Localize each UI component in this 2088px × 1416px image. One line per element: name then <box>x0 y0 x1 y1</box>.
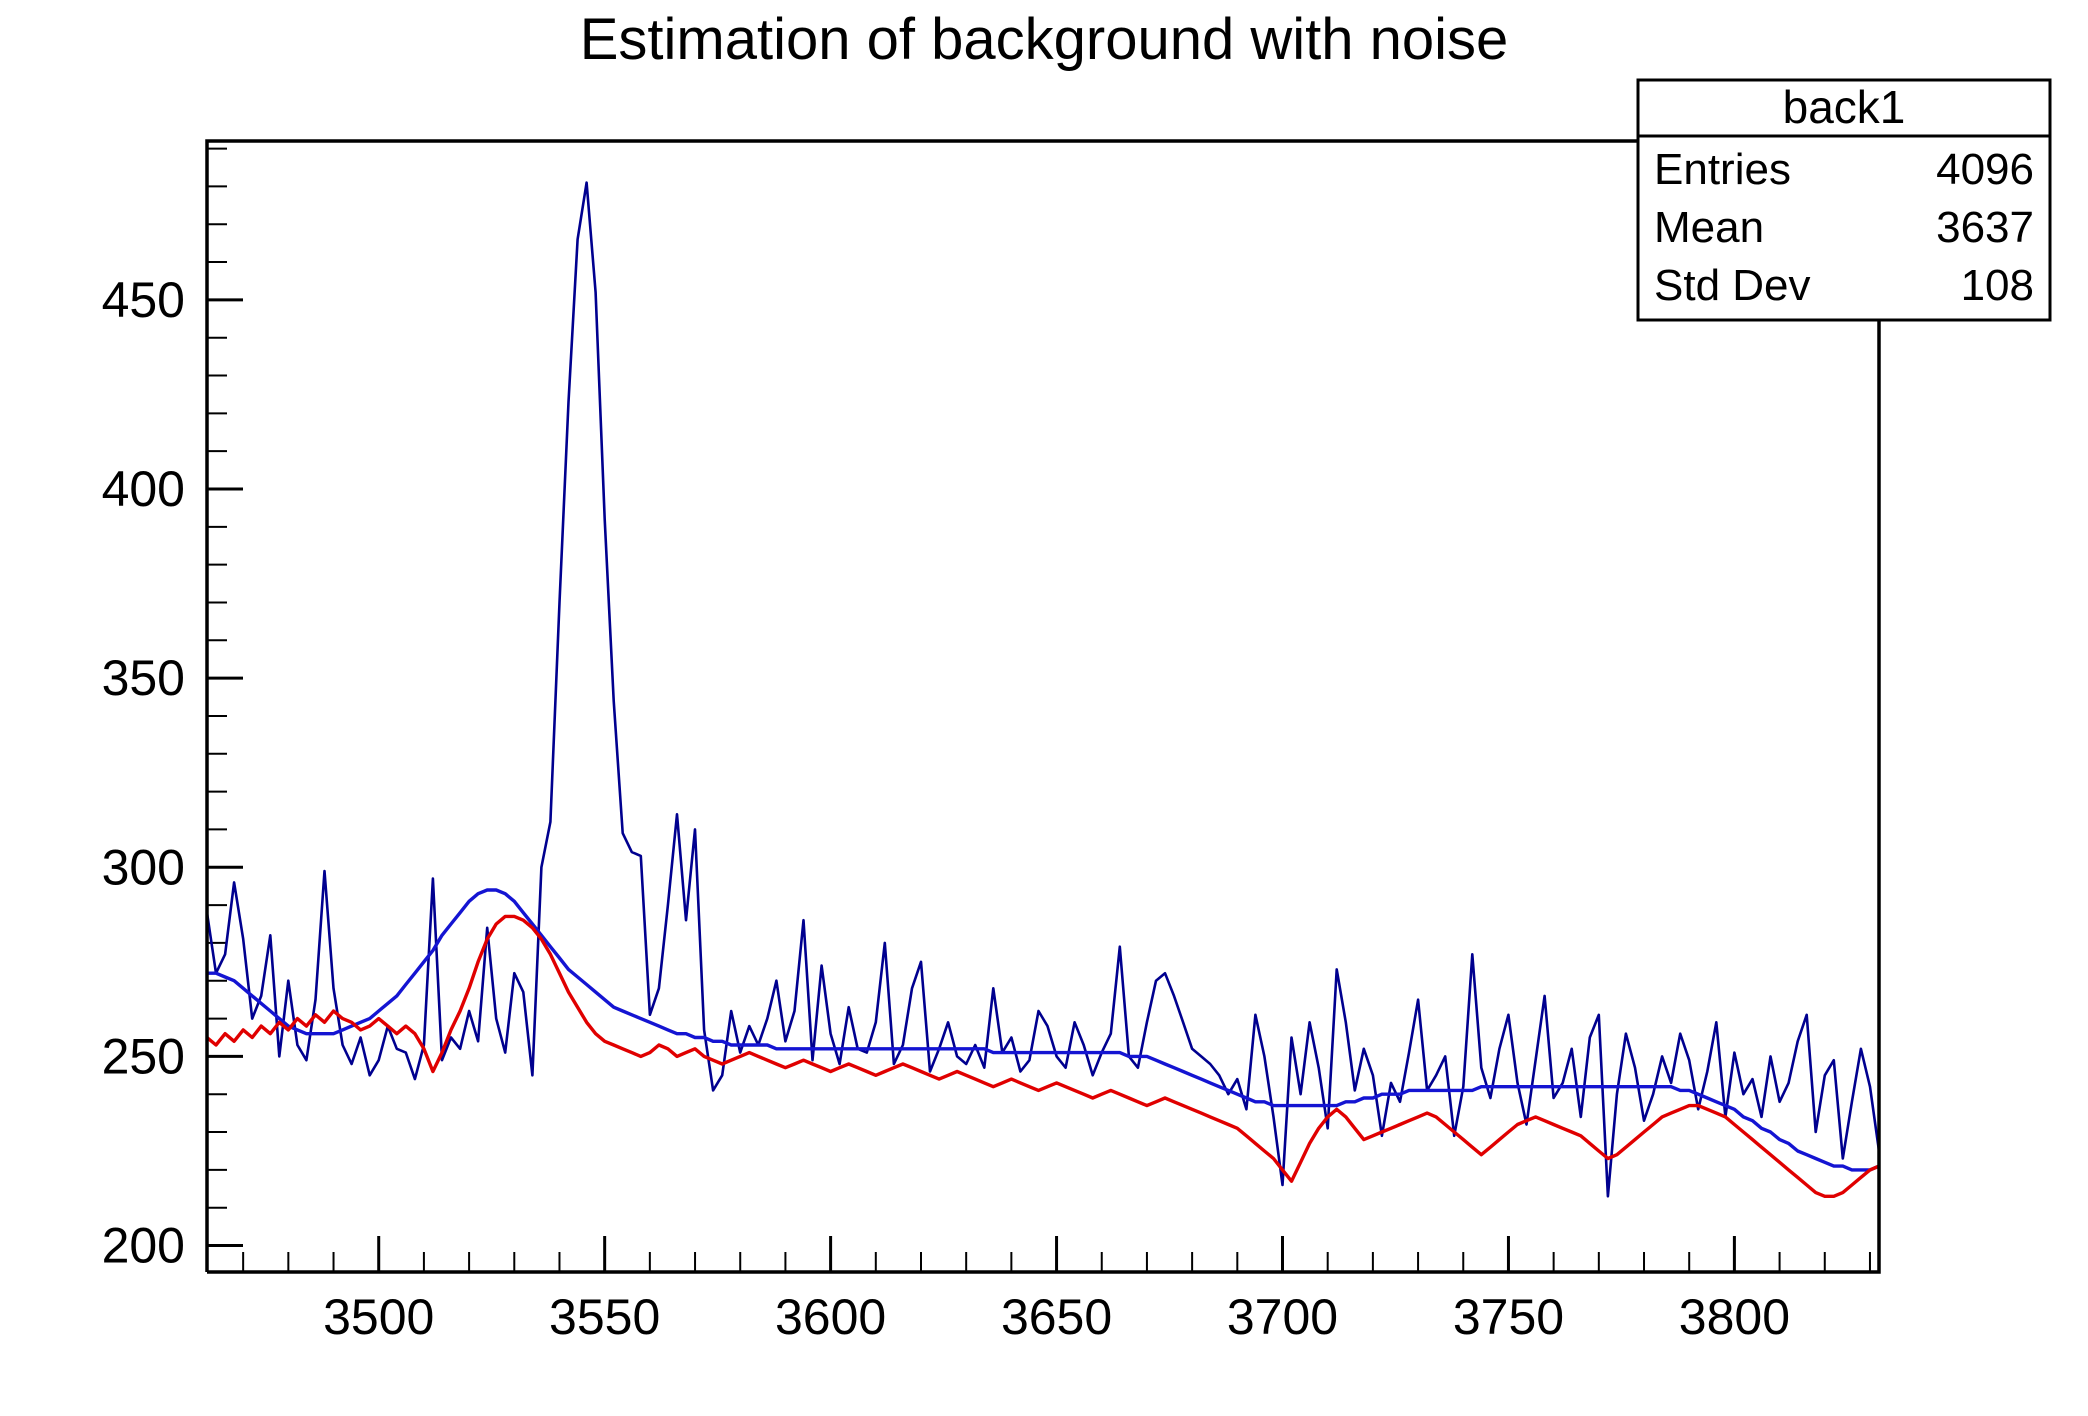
x-axis-tick-label: 3650 <box>1001 1289 1112 1345</box>
y-axis-tick-label: 300 <box>102 839 185 895</box>
y-axis-tick-label: 200 <box>102 1218 185 1274</box>
stats-box-title: back1 <box>1783 81 1906 133</box>
stats-row-value: 108 <box>1961 261 2034 310</box>
x-axis-tick-label: 3800 <box>1679 1289 1790 1345</box>
root-canvas: Estimation of background with noise 2002… <box>0 0 2088 1416</box>
data-series-group <box>207 183 1888 1197</box>
frame-rect <box>207 141 1879 1272</box>
stats-row-value: 4096 <box>1936 145 2034 194</box>
stats-row-label: Entries <box>1654 145 1791 194</box>
stats-row-label: Mean <box>1654 203 1764 252</box>
y-axis-tick-label: 250 <box>102 1028 185 1084</box>
x-axis-tick-label: 3700 <box>1227 1289 1338 1345</box>
minor-ticks-group <box>207 149 1870 1272</box>
stats-row-label: Std Dev <box>1654 261 1811 310</box>
y-axis-tick-label: 450 <box>102 272 185 328</box>
series-background-estimate-red <box>207 916 1888 1196</box>
chart-plot: 2002503003504004503500355036003650370037… <box>0 0 2088 1416</box>
stats-box[interactable]: back1Entries4096Mean3637Std Dev108 <box>1638 80 2050 320</box>
x-axis-tick-label: 3600 <box>775 1289 886 1345</box>
plot-frame <box>207 141 1879 1272</box>
series-spectrum-with-noise <box>207 183 1888 1197</box>
y-axis-tick-label: 400 <box>102 461 185 517</box>
tick-labels-group: 2002503003504004503500355036003650370037… <box>102 272 1790 1345</box>
x-axis-tick-label: 3500 <box>323 1289 434 1345</box>
x-axis-tick-label: 3750 <box>1453 1289 1564 1345</box>
x-axis-tick-label: 3550 <box>549 1289 660 1345</box>
stats-row-value: 3637 <box>1936 203 2034 252</box>
y-axis-tick-label: 350 <box>102 650 185 706</box>
major-ticks-group <box>207 300 1734 1272</box>
